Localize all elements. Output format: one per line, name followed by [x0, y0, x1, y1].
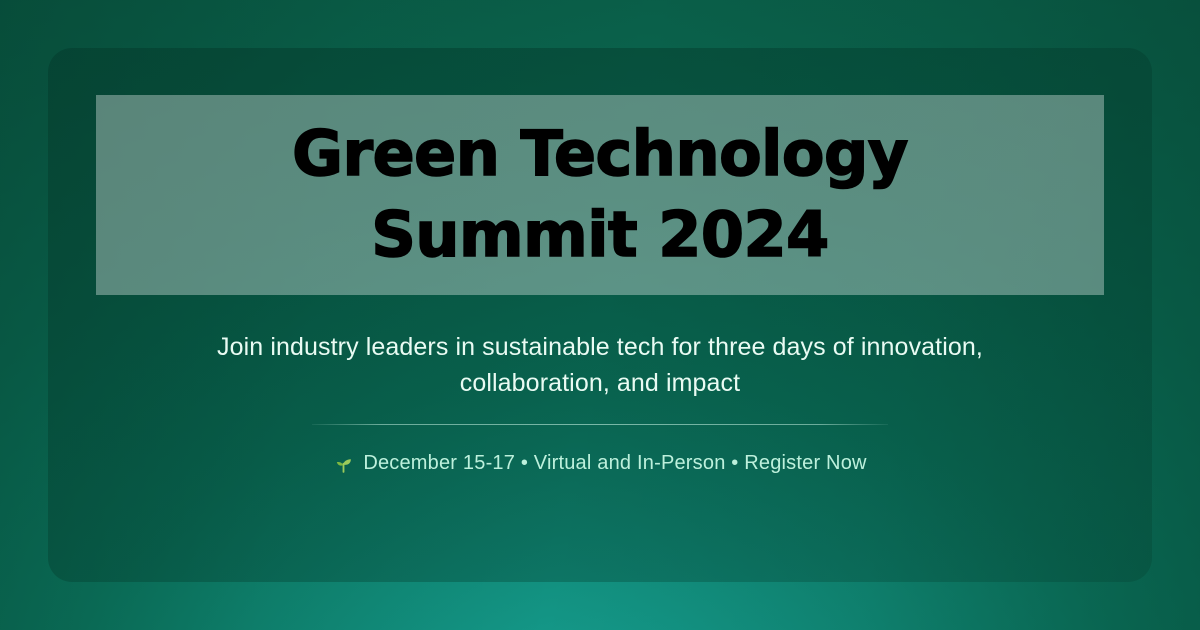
event-meta-text: December 15-17 • Virtual and In-Person •… [363, 452, 866, 475]
sprout-icon [333, 453, 354, 474]
event-meta: December 15-17 • Virtual and In-Person •… [333, 452, 866, 475]
divider [312, 424, 888, 425]
page-title: Green Technology Summit 2024 [268, 114, 932, 275]
subtitle: Join industry leaders in sustainable tec… [95, 295, 1105, 401]
banner-card: Green Technology Summit 2024 Join indust… [48, 48, 1152, 582]
event-banner: Green Technology Summit 2024 Join indust… [0, 0, 1200, 630]
banner-body: Join industry leaders in sustainable tec… [48, 295, 1152, 475]
title-band: Green Technology Summit 2024 [96, 95, 1104, 295]
